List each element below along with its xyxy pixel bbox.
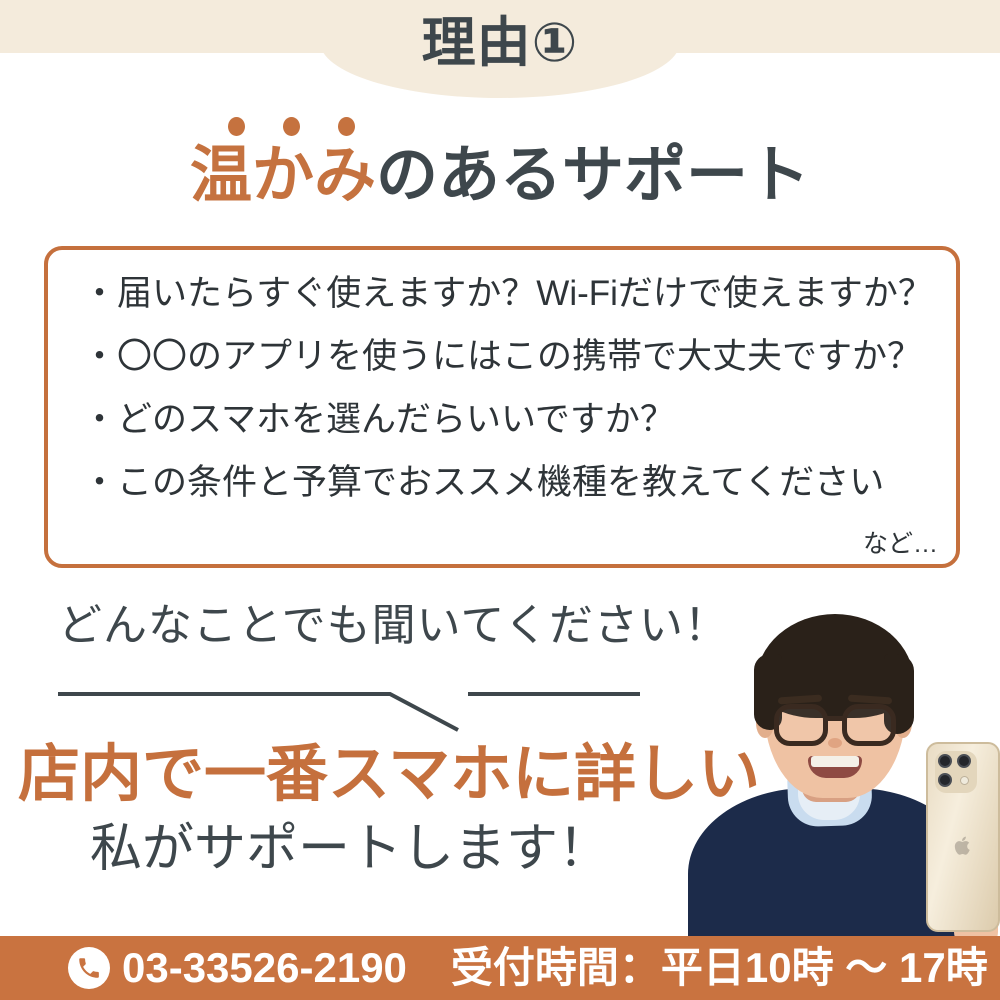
glasses-right-lens [842, 704, 896, 746]
camera-lens-icon [957, 754, 971, 768]
promo-poster: 理由① 温かみのあるサポート ・届いたらすぐ使えますか？Wi-Fiだけで使えます… [0, 0, 1000, 1000]
headline-subline: 私がサポートします！ [0, 823, 700, 875]
glasses-left-lens [774, 704, 828, 746]
emphasis-dots [228, 117, 388, 137]
list-item: ・どのスマホを選んだらいいですか？ [82, 402, 942, 437]
teeth-shape [811, 756, 859, 767]
list-item: ・〇〇のアプリを使うにはこの携帯で大丈夫ですか？ [82, 339, 942, 374]
page-title-rest: のあるサポート [376, 141, 810, 210]
camera-lens-icon [938, 773, 952, 787]
glasses-bridge [827, 716, 843, 721]
question-list: ・届いたらすぐ使えますか？Wi-Fiだけで使えますか？ ・〇〇のアプリを使うには… [82, 276, 942, 500]
phone-number[interactable]: 03-33526-2190 [122, 947, 407, 989]
speech-bubble-rule [50, 672, 650, 734]
ask-anything-text: どんなことでも聞いてください！ [58, 603, 729, 649]
dot-icon [228, 117, 245, 136]
headline-emphasis: 店内で一番スマホに詳しい [18, 744, 760, 806]
etc-label: など… [863, 524, 938, 560]
list-item: ・届いたらすぐ使えますか？Wi-Fiだけで使えますか？ [82, 276, 942, 311]
dot-icon [283, 117, 300, 136]
page-title-accent: 温かみ [190, 141, 376, 210]
contact-footer-bar: 03-33526-2190 受付時間：平日10時 〜 17時 [0, 936, 1000, 1000]
reason-badge-label: 理由① [0, 16, 1000, 70]
list-item: ・この条件と予算でおススメ機種を教えてください [82, 465, 942, 500]
phone-handset-icon [68, 947, 110, 989]
question-examples-box: ・届いたらすぐ使えますか？Wi-Fiだけで使えますか？ ・〇〇のアプリを使うには… [44, 246, 960, 568]
smartphone-device [926, 742, 1000, 932]
page-title: 温かみのあるサポート [0, 143, 1000, 210]
camera-flash-icon [960, 776, 969, 785]
business-hours: 受付時間：平日10時 〜 17時 [451, 947, 988, 989]
nose-shape [828, 738, 842, 748]
staff-photo [668, 592, 1000, 942]
dot-icon [338, 117, 355, 136]
camera-module [935, 751, 977, 793]
smiling-mouth-shape [808, 756, 862, 778]
apple-logo-icon [954, 836, 972, 856]
camera-lens-icon [938, 754, 952, 768]
